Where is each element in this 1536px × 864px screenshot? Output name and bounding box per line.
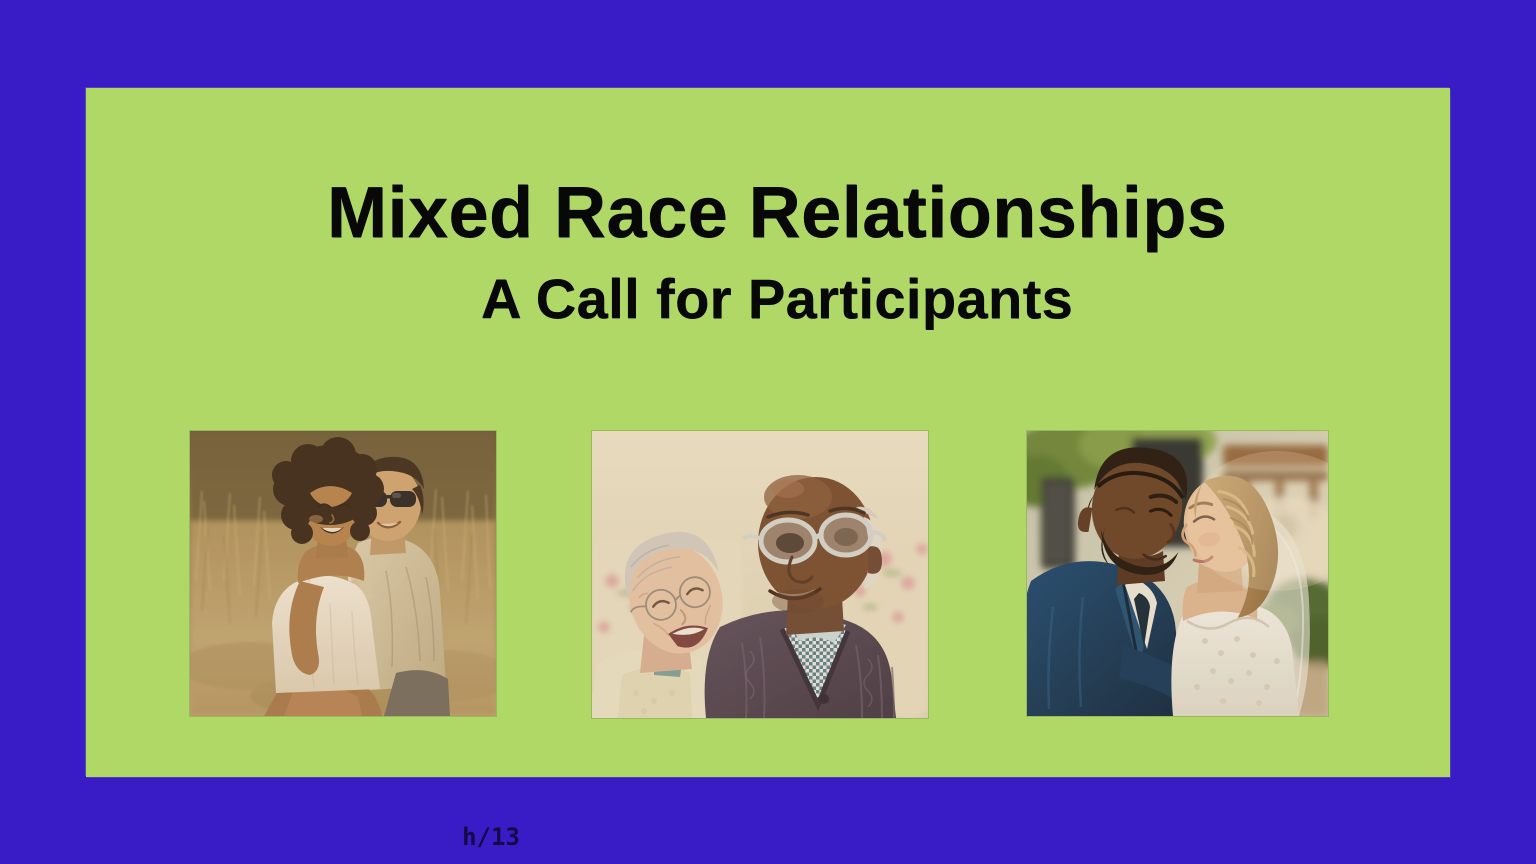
page-marker: h/13	[421, 822, 561, 852]
page-subtitle: A Call for Participants	[104, 268, 1450, 330]
page-title: Mixed Race Relationships	[104, 174, 1450, 252]
photo-2-image	[592, 431, 928, 718]
photo-elderly-interracial-couple-indoors	[592, 431, 928, 718]
photo-1-image	[190, 431, 496, 716]
photo-young-interracial-couple-outdoors	[190, 431, 496, 716]
photo-3-image	[1027, 431, 1328, 716]
title-block: Mixed Race Relationships A Call for Part…	[86, 174, 1450, 330]
photo-row	[86, 431, 1450, 721]
slide-content-panel: Mixed Race Relationships A Call for Part…	[86, 88, 1450, 777]
slide-canvas: Mixed Race Relationships A Call for Part…	[0, 0, 1536, 864]
photo-wedding-couple-forehead-touch	[1027, 431, 1328, 716]
